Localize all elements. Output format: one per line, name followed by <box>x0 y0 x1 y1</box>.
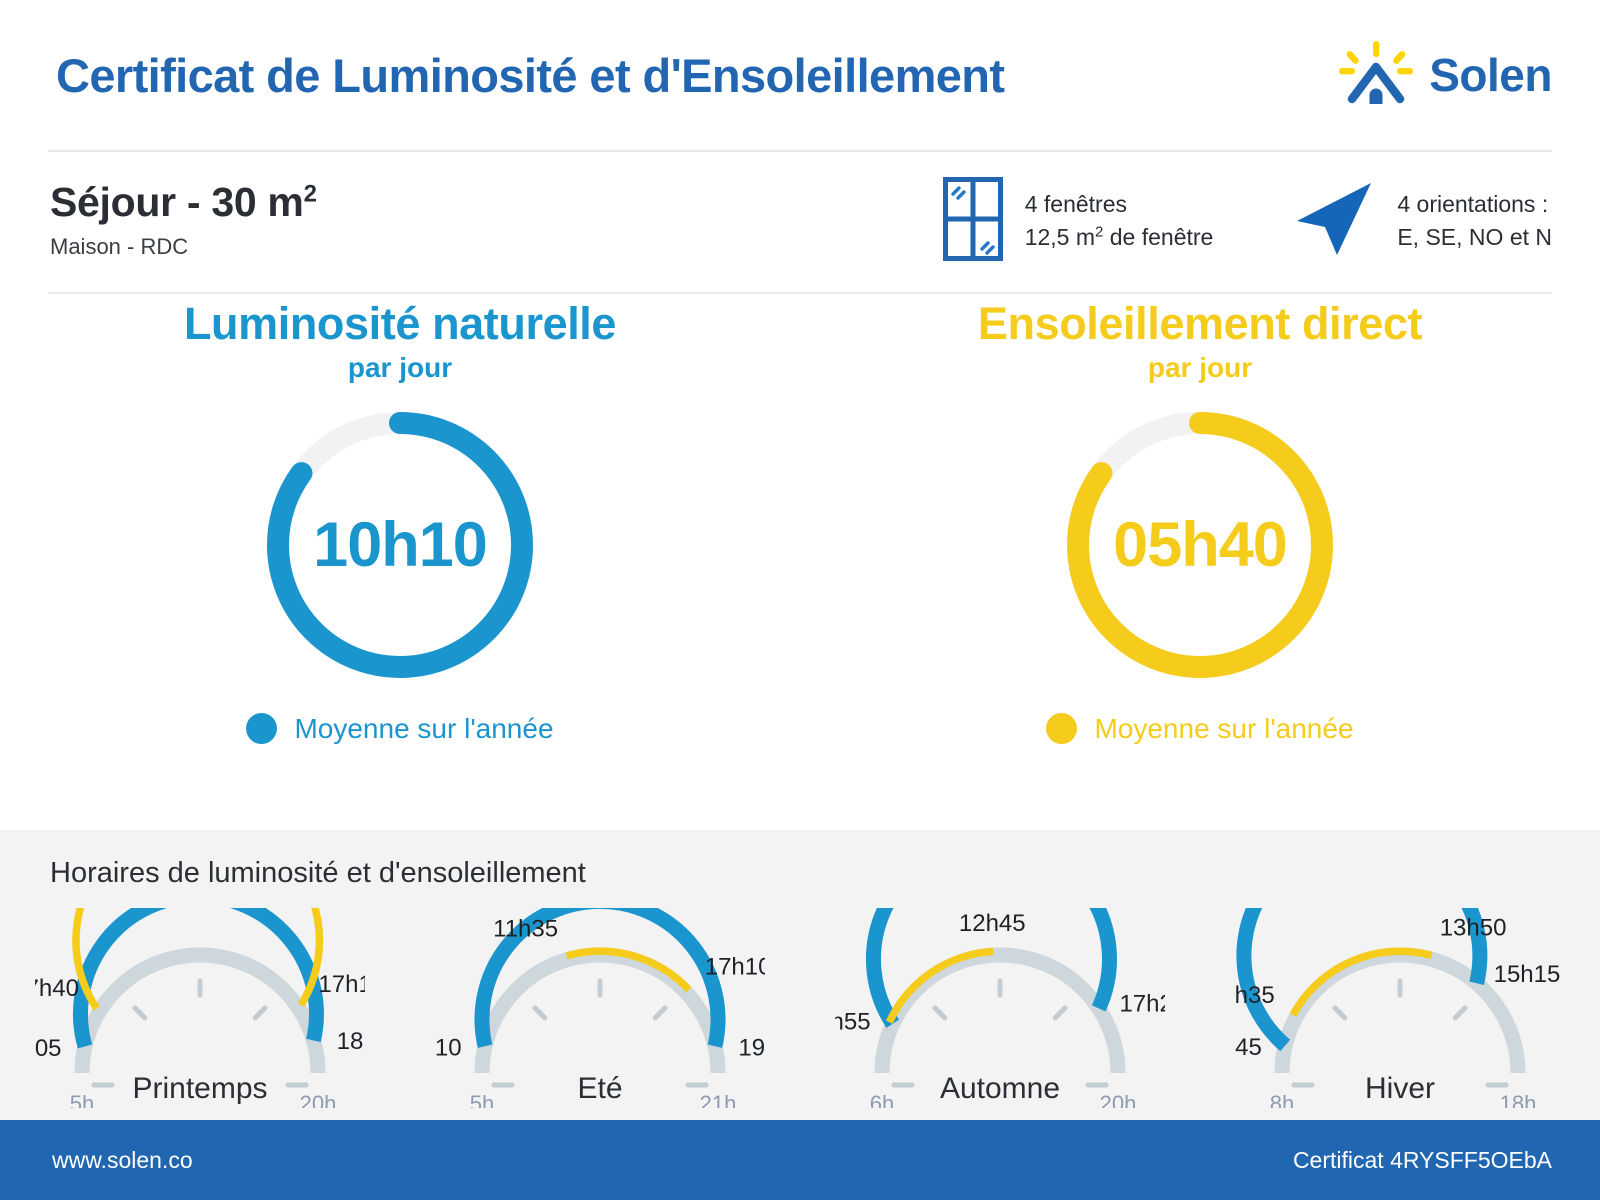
gauge-daylight-start-label: 06h10 <box>435 1035 462 1062</box>
metric-luminosite: Luminosité naturelle par jour 10h10 Moye… <box>0 300 800 830</box>
gauge-daylight-start-label: 07h55 <box>835 1008 871 1035</box>
room-name: Séjour - 30 m <box>50 179 304 225</box>
windows-count: 4 fenêtres <box>1025 188 1214 221</box>
info-divider <box>48 292 1552 294</box>
gauge-axis-start-label: 8h <box>1270 1091 1294 1108</box>
gauge-sunlight-end-label: 17h10 <box>705 954 765 981</box>
gauge-sunlight-end-label: 13h50 <box>1440 915 1507 942</box>
metrics-section: Luminosité naturelle par jour 10h10 Moye… <box>0 300 1600 830</box>
page-footer: www.solen.co Certificat 4RYSFF5OEbA <box>0 1120 1600 1200</box>
donut-chart-ensoleillement: 05h40 <box>1060 405 1340 685</box>
footer-certificate-id: Certificat 4RYSFF5OEbA <box>1293 1147 1552 1174</box>
room-area-exponent: 2 <box>304 180 317 207</box>
gauge-season-label: Eté <box>577 1072 622 1106</box>
gauge-axis-end-label: 20h <box>300 1091 337 1108</box>
gauge-axis-start-label: 5h <box>70 1091 94 1108</box>
schedule-panel: Horaires de luminosité et d'ensoleilleme… <box>0 830 1600 1120</box>
season-gauges: 5h20h06h0518h4007h4017h10 Printemps 5h21… <box>0 908 1600 1108</box>
compass-arrow-icon <box>1291 181 1375 262</box>
gauge-sunlight-start-label: 11h35 <box>493 915 558 942</box>
orientations-count: 4 orientations : <box>1397 188 1552 221</box>
legend-label: Moyenne sur l'année <box>1094 713 1353 745</box>
gauge-sunlight-end-label: 12h45 <box>959 910 1026 937</box>
gauge-hiver: 8h18h08h4515h1509h3513h50 Hiver <box>1200 908 1600 1108</box>
gauge-axis-end-label: 20h <box>1100 1091 1137 1108</box>
windows-area: 12,5 m2 de fenêtre <box>1025 221 1214 254</box>
donut-value: 10h10 <box>260 405 540 685</box>
orientations-fact-text: 4 orientations : E, SE, NO et N <box>1397 188 1552 253</box>
gauge-axis-end-label: 21h <box>700 1091 737 1108</box>
windows-fact: 4 fenêtres 12,5 m2 de fenêtre <box>943 177 1214 266</box>
metric-subtitle: par jour <box>1148 352 1252 384</box>
room-location: Maison - RDC <box>50 234 317 260</box>
sun-house-icon <box>1339 41 1413 110</box>
legend-color-dot <box>1046 713 1077 744</box>
brand-logo: Solen <box>1339 41 1552 110</box>
gauge-daylight-end-label: 15h15 <box>1494 961 1561 988</box>
gauge-eté: 5h21h06h1019h5011h3517h10 Eté <box>400 908 800 1108</box>
certificate-page: Certificat de Luminosité et d'Ensoleille… <box>0 0 1600 1200</box>
gauge-daylight-end-label: 19h50 <box>738 1035 765 1062</box>
donut-value: 05h40 <box>1060 405 1340 685</box>
gauge-season-label: Printemps <box>132 1072 267 1106</box>
schedule-title: Horaires de luminosité et d'ensoleilleme… <box>50 857 586 890</box>
window-icon <box>943 177 1003 266</box>
donut-chart-luminosite: 10h10 <box>260 405 540 685</box>
room-info-row: Séjour - 30 m2 Maison - RDC <box>0 150 1600 292</box>
gauge-daylight-end-label: 18h40 <box>337 1028 365 1055</box>
metric-subtitle: par jour <box>348 352 452 384</box>
gauge-sunlight-end-label: 17h10 <box>318 971 365 998</box>
legend-label: Moyenne sur l'année <box>294 713 553 745</box>
facts-group: 4 fenêtres 12,5 m2 de fenêtre 4 orientat… <box>943 177 1552 266</box>
windows-fact-text: 4 fenêtres 12,5 m2 de fenêtre <box>1025 188 1214 253</box>
metric-title: Ensoleillement direct <box>978 300 1422 349</box>
gauge-season-label: Hiver <box>1365 1072 1435 1106</box>
gauge-daylight-end-label: 17h25 <box>1119 990 1165 1017</box>
footer-website[interactable]: www.solen.co <box>52 1147 193 1174</box>
page-header: Certificat de Luminosité et d'Ensoleille… <box>0 0 1600 150</box>
page-title: Certificat de Luminosité et d'Ensoleille… <box>56 48 1004 103</box>
room-block: Séjour - 30 m2 Maison - RDC <box>50 182 317 260</box>
gauge-axis-start-label: 5h <box>470 1091 494 1108</box>
gauge-sunlight-start-label: 07h40 <box>35 975 79 1002</box>
gauge-daylight-start-label: 06h05 <box>35 1035 62 1062</box>
gauge-axis-start-label: 6h <box>870 1091 894 1108</box>
gauge-printemps: 5h20h06h0518h4007h4017h10 Printemps <box>0 908 400 1108</box>
gauge-automne: 6h20h07h5517h2512h45 Automne <box>800 908 1200 1108</box>
orientations-fact: 4 orientations : E, SE, NO et N <box>1291 181 1552 262</box>
gauge-season-label: Automne <box>940 1072 1060 1106</box>
orientations-list: E, SE, NO et N <box>1397 221 1552 254</box>
gauge-sunlight-start-label: 09h35 <box>1235 982 1275 1009</box>
legend-color-dot <box>246 713 277 744</box>
brand-name: Solen <box>1429 48 1552 102</box>
metric-ensoleillement: Ensoleillement direct par jour 05h40 Moy… <box>800 300 1600 830</box>
legend-ensoleillement: Moyenne sur l'année <box>1046 713 1353 745</box>
metric-title: Luminosité naturelle <box>184 300 616 349</box>
gauge-axis-end-label: 18h <box>1500 1091 1537 1108</box>
room-title: Séjour - 30 m2 <box>50 182 317 223</box>
legend-luminosite: Moyenne sur l'année <box>246 713 553 745</box>
gauge-daylight-start-label: 08h45 <box>1235 1034 1262 1061</box>
